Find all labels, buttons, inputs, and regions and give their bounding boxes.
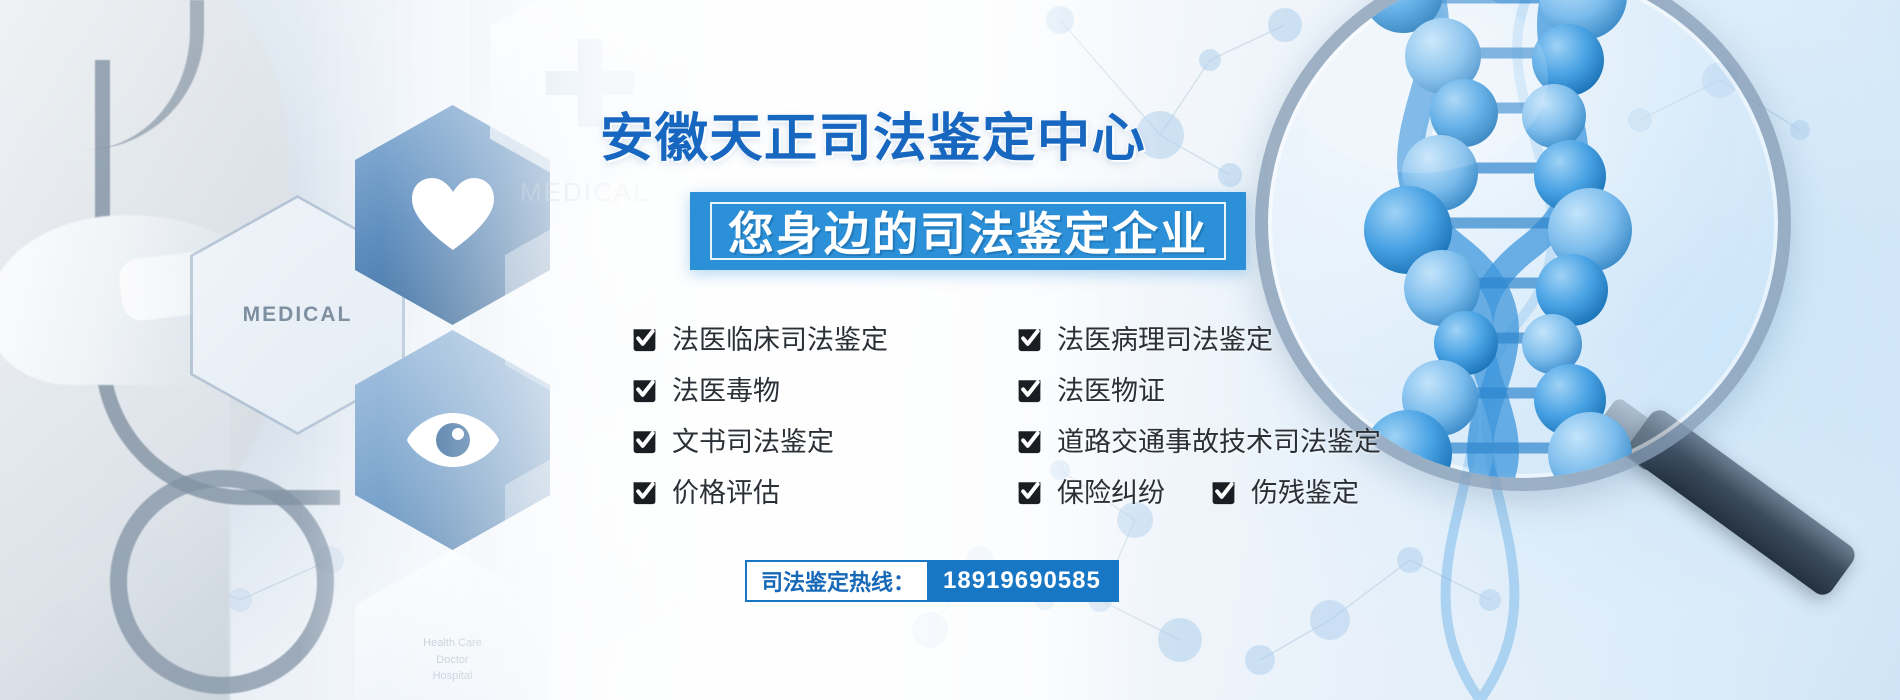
checkbox-checked-icon	[1209, 476, 1238, 505]
service-label: 法医临床司法鉴定	[672, 318, 888, 357]
service-item-right: 法医物证	[1015, 369, 1165, 408]
list-item: 文书司法鉴定 道路交通事故技术司法鉴定	[630, 420, 1470, 459]
service-item-left: 法医毒物	[630, 369, 1015, 408]
hotline-number[interactable]: 18919690585	[927, 562, 1117, 600]
service-label: 法医毒物	[672, 369, 780, 408]
checkbox-checked-icon	[1015, 476, 1044, 505]
service-item-left: 法医临床司法鉴定	[630, 318, 1015, 357]
service-label: 文书司法鉴定	[672, 420, 834, 459]
service-label: 法医物证	[1057, 369, 1165, 408]
subtitle-banner: 您身边的司法鉴定企业	[690, 192, 1246, 270]
checkbox-checked-icon	[630, 374, 659, 403]
checkbox-checked-icon	[630, 476, 659, 505]
checkbox-checked-icon	[630, 323, 659, 352]
service-item-left: 价格评估	[630, 471, 1015, 510]
service-label: 保险纠纷	[1057, 471, 1165, 510]
service-label: 法医病理司法鉴定	[1057, 318, 1273, 357]
service-label: 伤残鉴定	[1251, 471, 1359, 510]
hotline-box[interactable]: 司法鉴定热线： 18919690585	[745, 560, 1119, 602]
hotline-label: 司法鉴定热线：	[747, 562, 927, 600]
checkbox-checked-icon	[1015, 323, 1044, 352]
subtitle-inner-border: 您身边的司法鉴定企业	[710, 202, 1226, 260]
checkbox-checked-icon	[1015, 425, 1044, 454]
service-item-right: 保险纠纷	[1015, 471, 1165, 510]
list-item: 法医临床司法鉴定 法医病理司法鉴定	[630, 318, 1470, 357]
service-item-left: 文书司法鉴定	[630, 420, 1015, 459]
service-item-right: 道路交通事故技术司法鉴定	[1015, 420, 1381, 459]
page-title: 安徽天正司法鉴定中心	[600, 96, 1146, 171]
service-item-right: 法医病理司法鉴定	[1015, 318, 1273, 357]
checkbox-checked-icon	[630, 425, 659, 454]
list-item: 法医毒物 法医物证	[630, 369, 1470, 408]
banner-content: 安徽天正司法鉴定中心 您身边的司法鉴定企业 法医临床司法鉴定	[0, 0, 1900, 700]
service-label: 价格评估	[672, 471, 780, 510]
list-item: 价格评估 保险纠纷 伤残鉴定	[630, 471, 1470, 510]
checkbox-checked-icon	[1015, 374, 1044, 403]
subtitle-text: 您身边的司法鉴定企业	[728, 198, 1208, 264]
promotional-banner: MEDICAL	[0, 0, 1900, 700]
service-item-extra: 伤残鉴定	[1209, 471, 1359, 510]
service-list: 法医临床司法鉴定 法医病理司法鉴定	[630, 318, 1470, 522]
service-label: 道路交通事故技术司法鉴定	[1057, 420, 1381, 459]
